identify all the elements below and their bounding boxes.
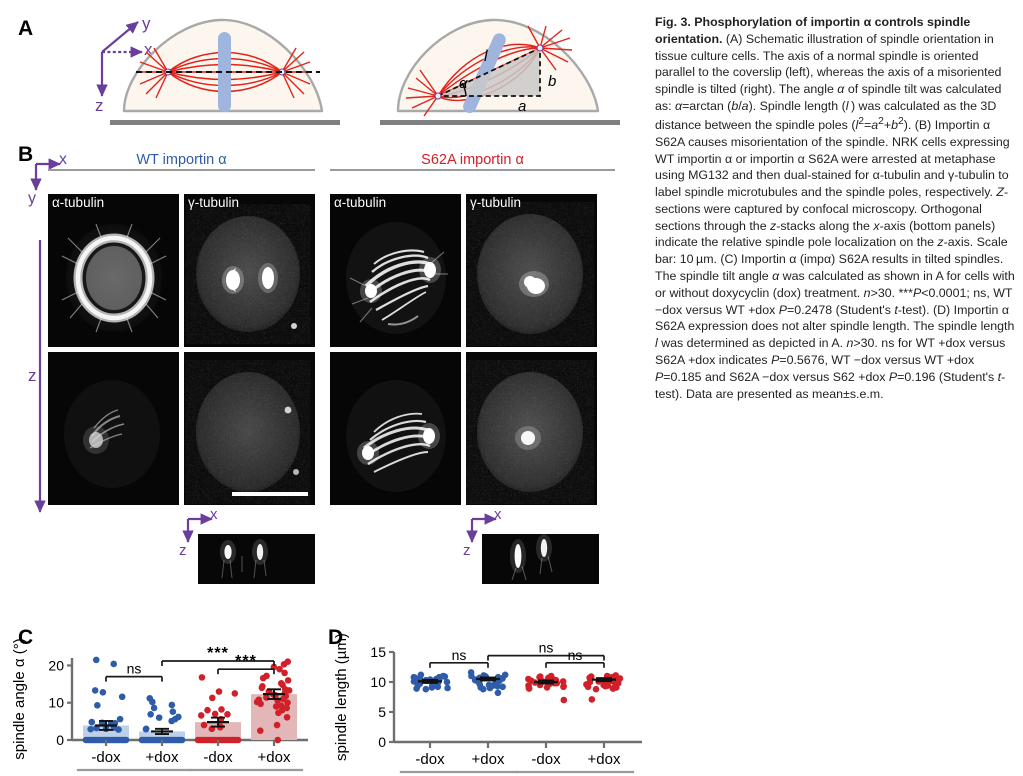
- panel-d-plot-area: 051015spindle length (µm)-dox+dox-dox+do…: [320, 630, 660, 776]
- significance-label: ns: [452, 647, 467, 663]
- ortho-left-axis-label-x: x: [210, 506, 218, 523]
- data-point: [92, 687, 99, 694]
- panel-d-chart: D 051015spindle length (µm)-dox+dox-dox+…: [320, 630, 660, 776]
- data-point: [495, 690, 502, 697]
- x-category-label: -dox: [91, 749, 121, 766]
- panel-a-length-l-label: l: [484, 48, 488, 66]
- x-category-label: -dox: [415, 751, 445, 768]
- data-point: [589, 696, 596, 703]
- panel-c-plot-area: 01020spindle angle α (°)-dox+dox-dox+dox…: [0, 630, 330, 776]
- data-point: [170, 708, 177, 715]
- y-tick-label: 5: [378, 704, 386, 720]
- panel-b-axis-label-z: z: [28, 366, 37, 386]
- data-point: [143, 726, 150, 733]
- micrograph-label: γ-tubulin: [188, 195, 239, 210]
- significance-label: ***: [235, 653, 257, 670]
- micrograph-wt-gamma-tubulin-xy-section2[interactable]: [184, 352, 315, 505]
- data-point: [100, 689, 107, 696]
- schematic-tilted-spindle: [380, 8, 620, 133]
- panel-b-axis-label-y: y: [28, 190, 36, 208]
- orthogonal-section-s62a[interactable]: [482, 534, 599, 584]
- data-point: [218, 706, 225, 713]
- data-point: [256, 696, 263, 703]
- y-tick-label: 10: [370, 674, 386, 690]
- x-category-label: -dox: [203, 749, 233, 766]
- data-point: [560, 678, 567, 685]
- scale-bar: [232, 492, 308, 496]
- significance-annotation: ns: [488, 640, 604, 661]
- data-point: [413, 685, 420, 692]
- data-point: [274, 737, 281, 744]
- schematic-normal-spindle: [110, 8, 340, 133]
- panel-a-angle-alpha-label: α: [459, 75, 468, 92]
- panel-b: B x y z WT importin α S62A importin α α-…: [0, 144, 650, 614]
- data-point: [123, 737, 130, 744]
- data-point: [179, 737, 186, 744]
- data-point: [411, 678, 418, 685]
- significance-label: ns: [539, 640, 554, 656]
- data-point: [156, 714, 163, 721]
- data-point: [212, 711, 219, 718]
- data-point: [94, 702, 101, 709]
- data-point: [525, 682, 532, 689]
- panel-a-side-b-label: b: [548, 73, 556, 90]
- data-point: [423, 686, 430, 693]
- y-tick-label: 10: [48, 695, 64, 711]
- data-point: [499, 675, 506, 682]
- data-point: [537, 673, 544, 680]
- data-point: [274, 722, 281, 729]
- x-category-label: -dox: [531, 751, 561, 768]
- y-tick-label: 0: [378, 734, 386, 750]
- significance-annotation: ns: [546, 647, 604, 668]
- data-point: [486, 682, 493, 689]
- x-category-label: +dox: [472, 751, 505, 768]
- panel-a-axis-label-z: z: [95, 96, 104, 116]
- group-header-wt-rule: [48, 169, 315, 171]
- group-header-wt-label: WT importin α: [48, 152, 315, 168]
- data-point: [429, 683, 436, 690]
- micrograph-s62a-alpha-tubulin-xy-section2[interactable]: [330, 352, 461, 505]
- significance-annotation: ns: [430, 647, 488, 668]
- ortho-left-axis-label-z: z: [179, 542, 187, 559]
- data-point: [151, 705, 158, 712]
- error-bar: [592, 678, 616, 681]
- significance-label: ns: [127, 661, 142, 677]
- data-point: [263, 673, 270, 680]
- micrograph-s62a-gamma-tubulin-xy[interactable]: γ-tubulin: [466, 194, 597, 347]
- data-point: [147, 711, 154, 718]
- group-header-s62a: S62A importin α: [330, 152, 615, 171]
- micrograph-s62a-gamma-tubulin-xy-section2[interactable]: [466, 352, 597, 505]
- data-point: [198, 712, 205, 719]
- micrograph-wt-alpha-tubulin-xy-section2[interactable]: [48, 352, 179, 505]
- data-point: [585, 684, 592, 691]
- micrograph-label: γ-tubulin: [470, 195, 521, 210]
- data-point: [87, 726, 94, 733]
- data-point: [115, 726, 122, 733]
- data-point: [259, 683, 266, 690]
- panel-c-chart: C 01020spindle angle α (°)-dox+dox-dox+d…: [0, 630, 330, 776]
- data-point: [561, 697, 568, 704]
- group-header-s62a-rule: [330, 169, 615, 171]
- data-point: [204, 707, 211, 714]
- caption-body: (A) Schematic illustration of spindle or…: [655, 32, 1015, 401]
- data-point: [235, 737, 242, 744]
- data-point: [610, 685, 617, 692]
- data-point: [285, 677, 292, 684]
- data-point: [146, 695, 153, 702]
- data-point: [119, 693, 126, 700]
- ortho-right-axis-label-x: x: [494, 506, 502, 523]
- data-point: [209, 695, 216, 702]
- y-tick-label: 15: [370, 644, 386, 660]
- x-category-label: +dox: [258, 749, 291, 766]
- micrograph-s62a-alpha-tubulin-xy[interactable]: α-tubulin: [330, 194, 461, 347]
- data-point: [88, 719, 95, 726]
- data-point: [284, 714, 291, 721]
- data-point: [216, 688, 223, 695]
- data-point: [616, 676, 623, 683]
- data-point: [110, 661, 117, 668]
- error-bar: [418, 680, 442, 683]
- ortho-right-axis-label-z: z: [463, 542, 471, 559]
- error-bar: [476, 678, 500, 681]
- y-axis-label: spindle angle α (°): [11, 638, 28, 759]
- orthogonal-section-wt[interactable]: [198, 534, 315, 584]
- data-point: [199, 674, 206, 681]
- group-header-s62a-label: S62A importin α: [330, 152, 615, 168]
- data-point: [444, 685, 451, 692]
- data-point: [434, 684, 441, 691]
- y-tick-label: 0: [56, 732, 64, 748]
- data-point: [117, 716, 124, 723]
- micrograph-wt-alpha-tubulin-xy[interactable]: α-tubulin: [48, 194, 179, 347]
- data-point: [284, 658, 291, 665]
- data-point: [169, 702, 176, 709]
- y-tick-label: 20: [48, 657, 64, 673]
- panel-a: A y x z: [0, 0, 650, 140]
- data-point: [175, 714, 182, 721]
- group-header-wt: WT importin α: [48, 152, 315, 171]
- significance-label: ***: [207, 645, 229, 662]
- significance-annotation: ***: [162, 645, 274, 666]
- x-category-label: +dox: [146, 749, 179, 766]
- panel-a-side-a-label: a: [518, 98, 526, 115]
- y-axis-label: spindle length (µm): [333, 633, 350, 761]
- error-bar: [534, 681, 558, 684]
- data-point: [257, 727, 264, 734]
- data-point: [444, 679, 451, 686]
- micrograph-label: α-tubulin: [334, 195, 386, 210]
- x-category-label: +dox: [588, 751, 621, 768]
- data-point: [593, 686, 600, 693]
- figure-caption: Fig. 3. Phosphorylation of importin α co…: [655, 14, 1017, 402]
- micrograph-label: α-tubulin: [52, 195, 104, 210]
- significance-label: ns: [568, 647, 583, 663]
- data-point: [525, 676, 532, 683]
- data-point: [224, 711, 231, 718]
- panel-a-letter: A: [18, 18, 33, 39]
- data-point: [278, 680, 285, 687]
- data-point: [93, 657, 100, 664]
- data-point: [201, 722, 208, 729]
- micrograph-wt-gamma-tubulin-xy[interactable]: γ-tubulin: [184, 194, 315, 347]
- data-point: [232, 690, 239, 697]
